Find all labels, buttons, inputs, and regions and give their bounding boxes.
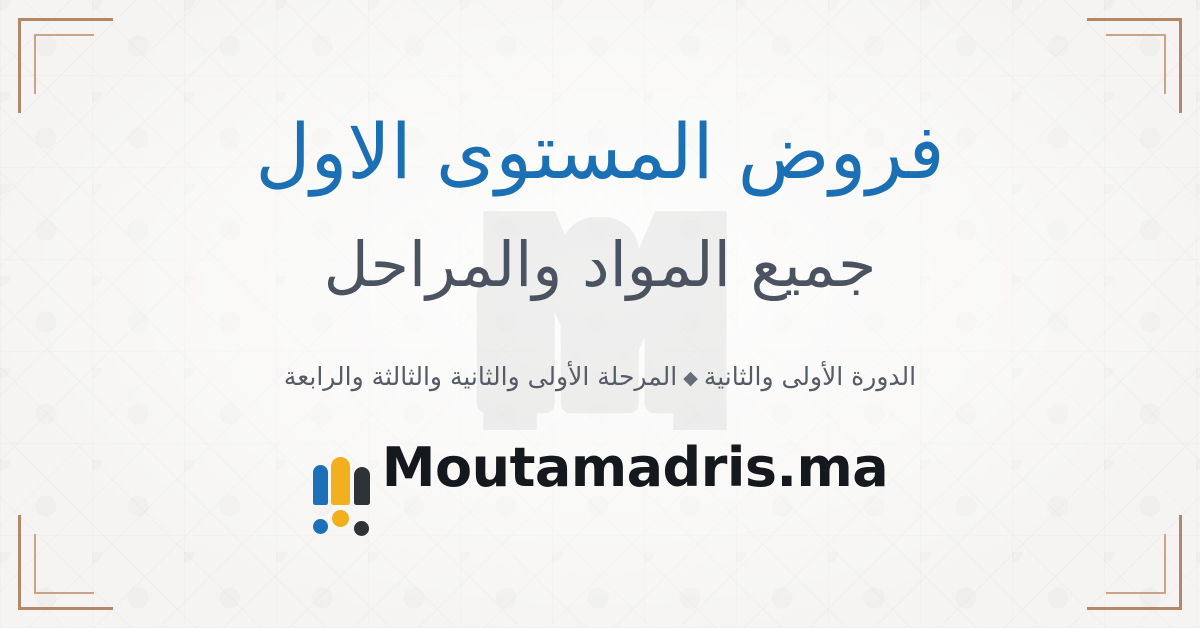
logo-head-yellow-icon (332, 510, 349, 527)
logo-body-blue-icon (313, 465, 328, 505)
logo-head-blue-icon (313, 519, 328, 534)
logo-head-dark-icon (354, 521, 369, 536)
brand-name: Moutamadris.ma (382, 441, 888, 495)
poster-content: فروض المستوى الاول جميع المواد والمراحل … (0, 0, 1200, 628)
page-subtitle: جميع المواد والمراحل (324, 225, 877, 306)
poster-caption: الدورة الأولى والثانية◆المرحلة الأولى وا… (284, 362, 916, 391)
logo-body-yellow-icon (331, 457, 350, 505)
poster-canvas: M فروض المستوى الاول جميع المواد والمراح… (0, 0, 1200, 628)
caption-separator-icon: ◆ (677, 367, 704, 389)
brand-logo-icon (312, 431, 376, 505)
page-title: فروض المستوى الاول (255, 104, 944, 199)
logo-body-dark-icon (354, 467, 370, 505)
caption-term-text: الدورة الأولى والثانية (704, 362, 916, 391)
brand-lockup: Moutamadris.ma (312, 431, 888, 505)
caption-stage-text: المرحلة الأولى والثانية والثالثة والرابع… (284, 362, 677, 391)
